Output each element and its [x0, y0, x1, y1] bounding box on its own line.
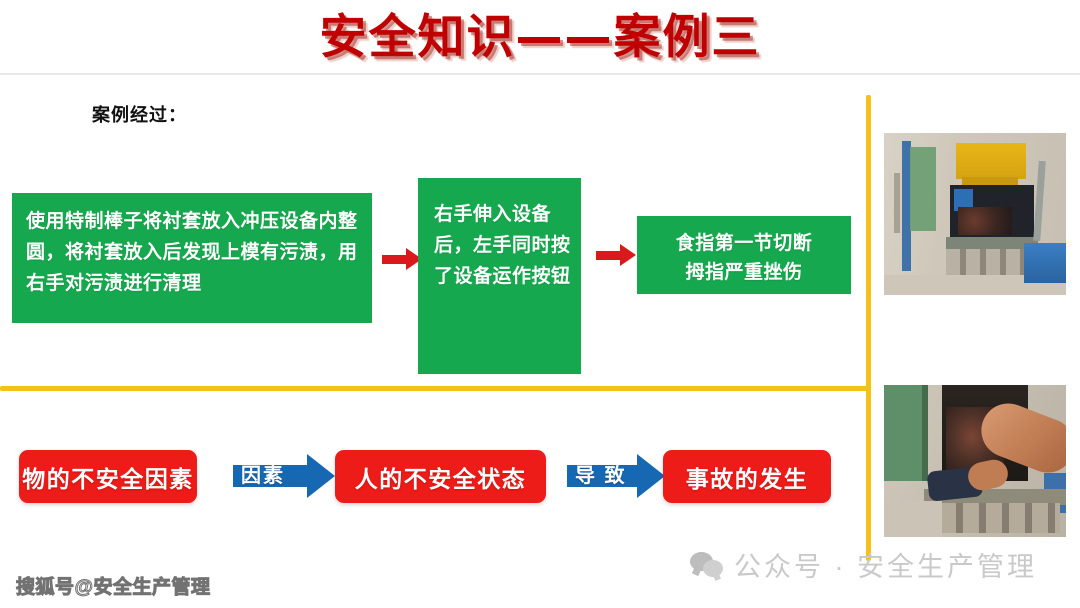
page-title: 安全知识——案例三 [320, 14, 761, 61]
title-bar: 安全知识——案例三 [0, 0, 1080, 74]
case-section-label: 案例经过： [92, 101, 187, 127]
slide-root: 安全知识——案例三 案例经过： 使用特制棒子将衬套放入冲压设备内整圆，将衬套放入… [0, 0, 1080, 608]
process-step-2-text: 右手伸入设备后，左手同时按了设备运作按钮 [434, 200, 571, 292]
process-step-3-line-1: 食指第一节切断 [645, 229, 843, 258]
horizontal-accent-line [0, 386, 870, 391]
process-step-1: 使用特制棒子将衬套放入冲压设备内整圆，将衬套放入后发现上模有污渍，用右手对污渍进… [12, 193, 372, 323]
watermark-wechat: 公众号 · 安全生产管理 [690, 545, 1037, 584]
flow-arrow-2-icon [596, 244, 638, 267]
watermark-wechat-label: 公众号 · 安全生产管理 [734, 545, 1037, 584]
watermark-sohu: 搜狐号@安全生产管理 [16, 572, 211, 599]
cause-connector-2: 导 致 [567, 454, 663, 498]
cause-connector-1: 因素 [233, 454, 333, 498]
process-step-1-text: 使用特制棒子将衬套放入冲压设备内整圆，将衬套放入后发现上模有污渍，用右手对污渍进… [26, 207, 360, 299]
process-step-3-line-2: 拇指严重挫伤 [645, 258, 843, 287]
photo-press-machine [884, 133, 1066, 295]
cause-connector-1-label: 因素 [241, 461, 285, 491]
process-step-2: 右手伸入设备后，左手同时按了设备运作按钮 [418, 178, 581, 374]
cause-box-unsafe-state: 人的不安全状态 [335, 450, 546, 503]
process-step-3: 食指第一节切断 拇指严重挫伤 [637, 216, 851, 294]
vertical-accent-line [866, 95, 871, 561]
cause-box-unsafe-object: 物的不安全因素 [19, 450, 197, 503]
cause-box-accident: 事故的发生 [663, 450, 831, 503]
cause-connector-2-label: 导 致 [575, 461, 627, 491]
photo-hand-in-die [884, 385, 1066, 537]
title-divider [0, 73, 1080, 75]
wechat-icon [690, 552, 724, 578]
